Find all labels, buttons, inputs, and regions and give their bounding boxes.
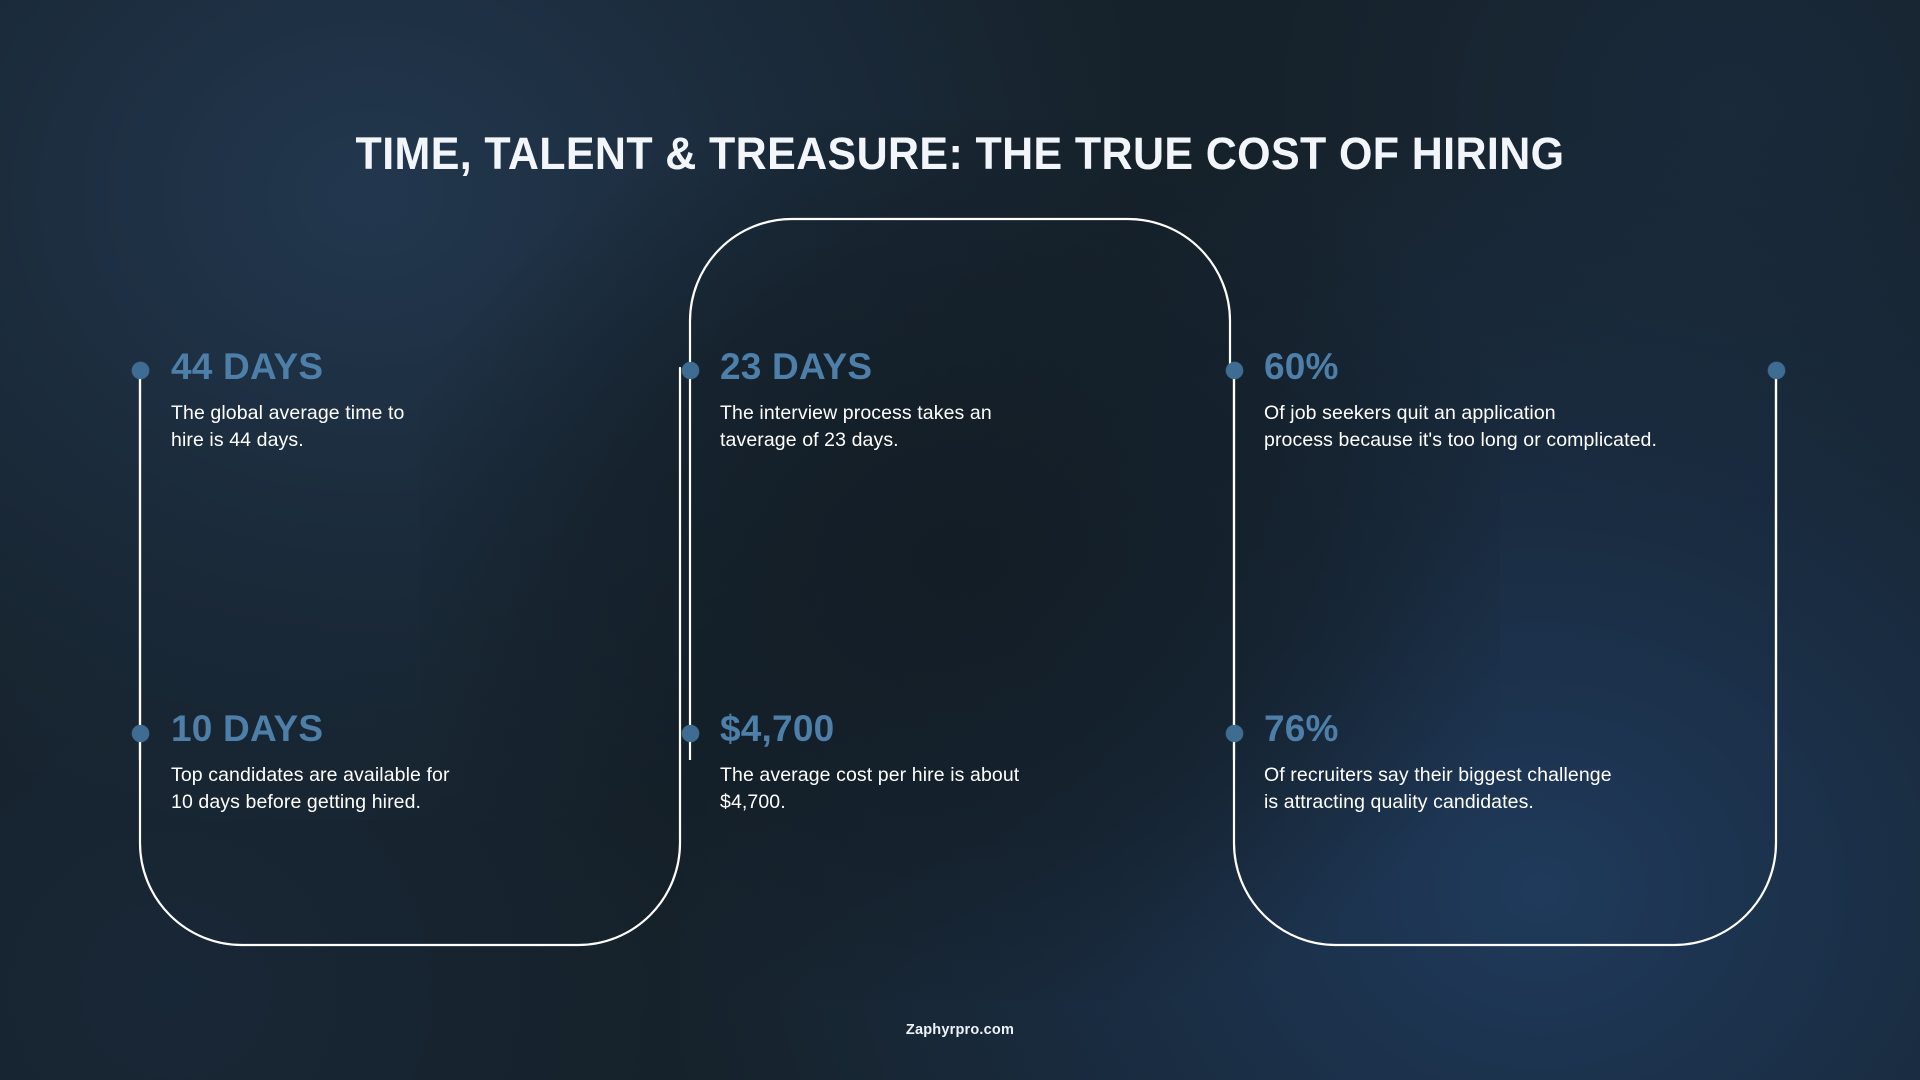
stat-value: 23 DAYS bbox=[720, 348, 1280, 385]
stat-value: $4,700 bbox=[720, 710, 1280, 747]
stat-description: Of job seekers quit an application proce… bbox=[1264, 400, 1864, 454]
stat-value: 60% bbox=[1264, 348, 1884, 385]
stat-block-time-to-hire: 44 DAYS The global average time to hire … bbox=[171, 348, 731, 454]
infographic-canvas: TIME, TALENT & TREASURE: THE TRUE COST O… bbox=[0, 0, 1920, 1080]
marker-dot-stat-4 bbox=[132, 725, 149, 742]
stat-block-cost-per-hire: $4,700 The average cost per hire is abou… bbox=[720, 710, 1280, 816]
stat-description: Top candidates are available for 10 days… bbox=[171, 762, 691, 816]
stat-value: 10 DAYS bbox=[171, 710, 731, 747]
stat-block-recruiter-challenge: 76% Of recruiters say their biggest chal… bbox=[1264, 710, 1884, 816]
stat-description: The global average time to hire is 44 da… bbox=[171, 400, 691, 454]
stat-description: The average cost per hire is about $4,70… bbox=[720, 762, 1240, 816]
footer-branding: Zaphyrpro.com bbox=[0, 1022, 1920, 1038]
marker-dot-stat-1 bbox=[132, 362, 149, 379]
stat-block-application-abandonment: 60% Of job seekers quit an application p… bbox=[1264, 348, 1884, 454]
stat-description: The interview process takes an taverage … bbox=[720, 400, 1240, 454]
stat-description: Of recruiters say their biggest challeng… bbox=[1264, 762, 1864, 816]
background-center-vignette bbox=[420, 120, 1500, 1000]
stat-value: 44 DAYS bbox=[171, 348, 731, 385]
stat-value: 76% bbox=[1264, 710, 1884, 747]
page-title: TIME, TALENT & TREASURE: THE TRUE COST O… bbox=[43, 129, 1877, 179]
stat-block-interview-length: 23 DAYS The interview process takes an t… bbox=[720, 348, 1280, 454]
stat-block-candidate-availability: 10 DAYS Top candidates are available for… bbox=[171, 710, 731, 816]
